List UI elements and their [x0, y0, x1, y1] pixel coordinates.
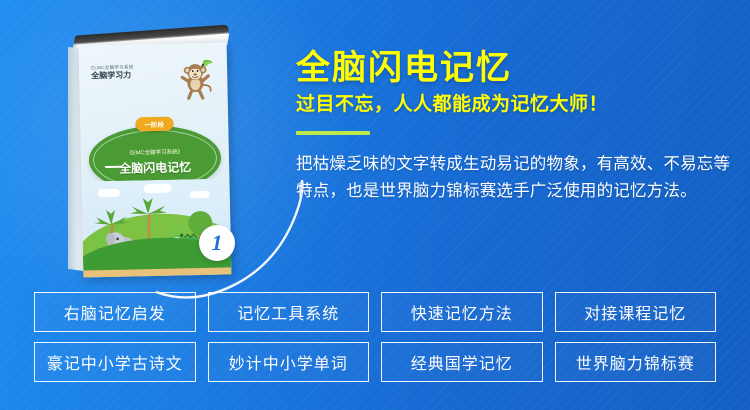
feature-label: 世界脑力锦标赛	[576, 350, 695, 374]
feature-label: 对接课程记忆	[584, 300, 686, 324]
monkey-mascot-icon	[173, 57, 218, 102]
feature-label: 记忆工具系统	[237, 300, 339, 324]
cover-label-title: 全脑闪电记忆	[89, 158, 221, 178]
feature-grid: 右脑记忆启发 记忆工具系统 快速记忆方法 对接课程记忆 豪记中小学古诗文 妙计中…	[34, 292, 716, 382]
feature-box[interactable]: 豪记中小学古诗文	[34, 342, 196, 382]
step-number-badge: 1	[199, 225, 235, 261]
feature-box[interactable]: 记忆工具系统	[208, 292, 370, 332]
feature-box[interactable]: 对接课程记忆	[555, 292, 717, 332]
step-number-text: 1	[212, 232, 223, 254]
headline: 全脑闪电记忆	[296, 50, 740, 86]
feature-box[interactable]: 妙计中小学单词	[208, 342, 370, 382]
feature-box[interactable]: 右脑记忆启发	[34, 292, 196, 332]
body-paragraph: 把枯燥乏味的文字转成生动易记的物象，有高效、不易忘等特点，也是世界脑力锦标赛选手…	[296, 151, 740, 204]
feature-label: 经典国学记忆	[411, 350, 513, 374]
brand-logo: ELMC全脑学习系统 全脑学习力	[91, 64, 143, 83]
copy-block: 全脑闪电记忆 过目不忘，人人都能成为记忆大师！ 把枯燥乏味的文字转成生动易记的物…	[296, 50, 740, 204]
feature-label: 快速记忆方法	[411, 300, 513, 324]
feature-label: 妙计中小学单词	[229, 350, 348, 374]
subheadline: 过目不忘，人人都能成为记忆大师！	[296, 94, 740, 117]
stage-badge: 一阶段	[135, 117, 173, 132]
feature-box[interactable]: 快速记忆方法	[381, 292, 543, 332]
accent-divider	[296, 131, 370, 135]
brand-logo-line2: 全脑学习力	[91, 70, 143, 81]
feature-label: 右脑记忆启发	[64, 300, 166, 324]
feature-box[interactable]: 世界脑力锦标赛	[555, 342, 717, 382]
feature-box[interactable]: 经典国学记忆	[381, 342, 543, 382]
feature-label: 豪记中小学古诗文	[47, 350, 183, 374]
promo-banner: ELMC全脑学习系统 全脑学习力	[0, 0, 750, 410]
product-box-illustration: ELMC全脑学习系统 全脑学习力	[62, 22, 292, 292]
